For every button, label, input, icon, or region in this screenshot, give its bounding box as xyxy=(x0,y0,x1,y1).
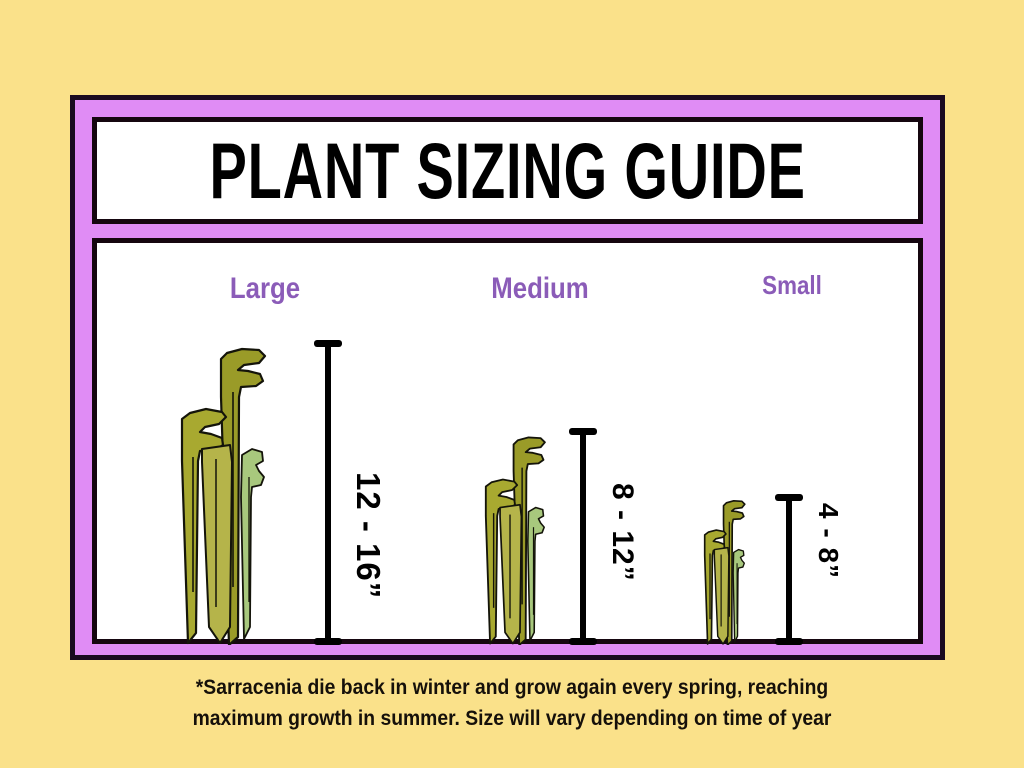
measure-label-medium: 8 - 12” xyxy=(607,483,637,582)
measure-stem xyxy=(325,340,331,645)
measure-stem xyxy=(786,494,792,645)
measure-bar-medium xyxy=(569,428,597,645)
size-label-large: Large xyxy=(230,274,300,304)
footnote-line-2: maximum growth in summer. Size will vary… xyxy=(41,703,983,734)
sarracenia-plant-icon xyxy=(473,429,557,645)
measure-cap-top xyxy=(314,340,342,347)
plant-illustration-large xyxy=(164,337,282,645)
measure-cap-top xyxy=(775,494,803,501)
size-label-small: Small xyxy=(762,272,822,298)
footnote-line-1: *Sarracenia die back in winter and grow … xyxy=(41,672,983,703)
sarracenia-plant-icon xyxy=(164,337,282,645)
sarracenia-plant-icon xyxy=(696,495,753,645)
measure-stem xyxy=(580,428,586,645)
title-panel: PLANT SIZING GUIDE xyxy=(92,117,923,224)
plant-illustration-small xyxy=(696,495,753,645)
measure-cap-bottom xyxy=(314,638,342,645)
measure-label-small: 4 - 8” xyxy=(814,503,842,579)
measure-bar-small xyxy=(775,494,803,645)
page-title: PLANT SIZING GUIDE xyxy=(209,131,805,209)
size-label-medium: Medium xyxy=(491,274,588,304)
measure-cap-bottom xyxy=(775,638,803,645)
footnote: *Sarracenia die back in winter and grow … xyxy=(0,672,1024,734)
plant-illustration-medium xyxy=(473,429,557,645)
measure-bar-large xyxy=(314,340,342,645)
measure-label-large: 12 - 16” xyxy=(352,472,385,599)
measure-cap-bottom xyxy=(569,638,597,645)
measure-cap-top xyxy=(569,428,597,435)
